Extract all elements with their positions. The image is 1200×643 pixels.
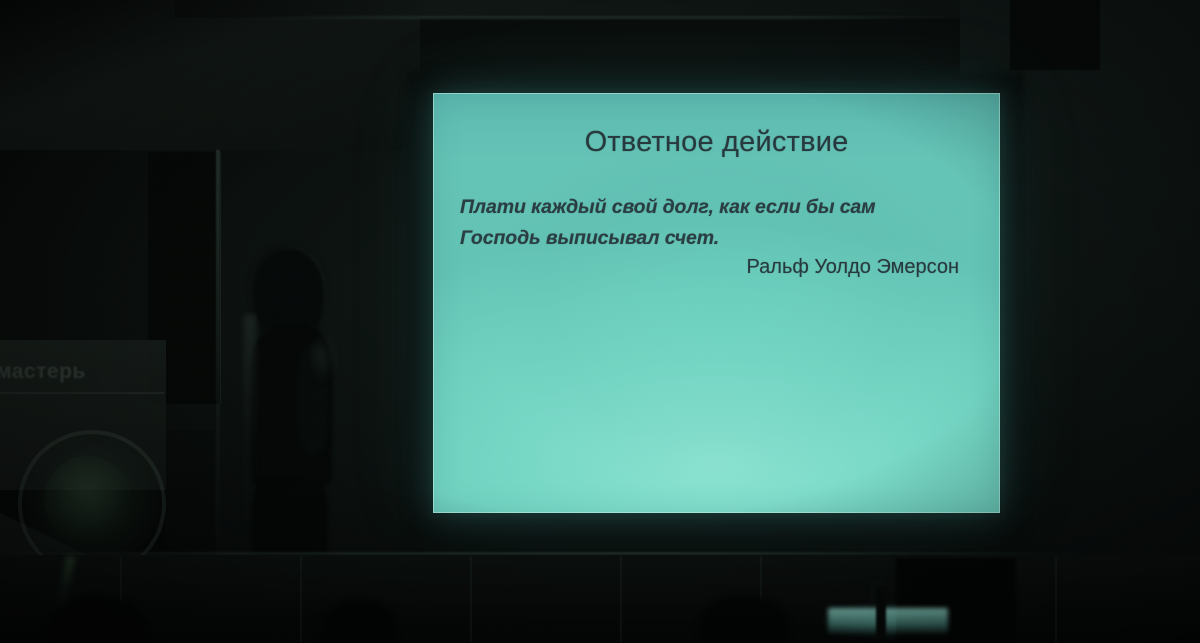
wall-panel-edge-sheen [216, 150, 220, 570]
slide: Ответное действие Плати каждый свой долг… [433, 93, 1000, 513]
poster-logo-inner-icon [44, 456, 132, 544]
slide-quote: Плати каждый свой долг, как если бы сам … [460, 192, 965, 254]
presenter-rimlight [244, 315, 256, 545]
stage-front-panel [0, 555, 1200, 643]
stage-slat [620, 556, 622, 642]
audience-head [322, 600, 396, 643]
presenter-head [262, 255, 314, 315]
slide-quote-line-2: Господь выписывал счет. [460, 223, 965, 254]
poster-divider [0, 392, 164, 394]
stage-slat [470, 556, 472, 642]
photo-scene: мастерь Ответное действие Плати каждый с… [0, 0, 1200, 643]
corner-block-top-right [1010, 0, 1100, 70]
slide-title: Ответное действие [433, 126, 1000, 159]
slide-quote-line-1: Плати каждый свой долг, как если бы сам [460, 192, 965, 223]
ceiling-edge-highlight [230, 16, 970, 19]
stage-slat [300, 556, 302, 642]
poster-headline: мастерь [0, 360, 146, 384]
slide-attribution: Ральф Уолдо Эмерсон [460, 256, 959, 279]
wall-upper-left [0, 0, 420, 150]
laptop-screen-glow [828, 608, 948, 634]
presenter-hand [310, 333, 340, 385]
audience-head [700, 596, 788, 643]
stage-slat [1055, 556, 1057, 642]
laptop-screen-divider [876, 586, 886, 638]
